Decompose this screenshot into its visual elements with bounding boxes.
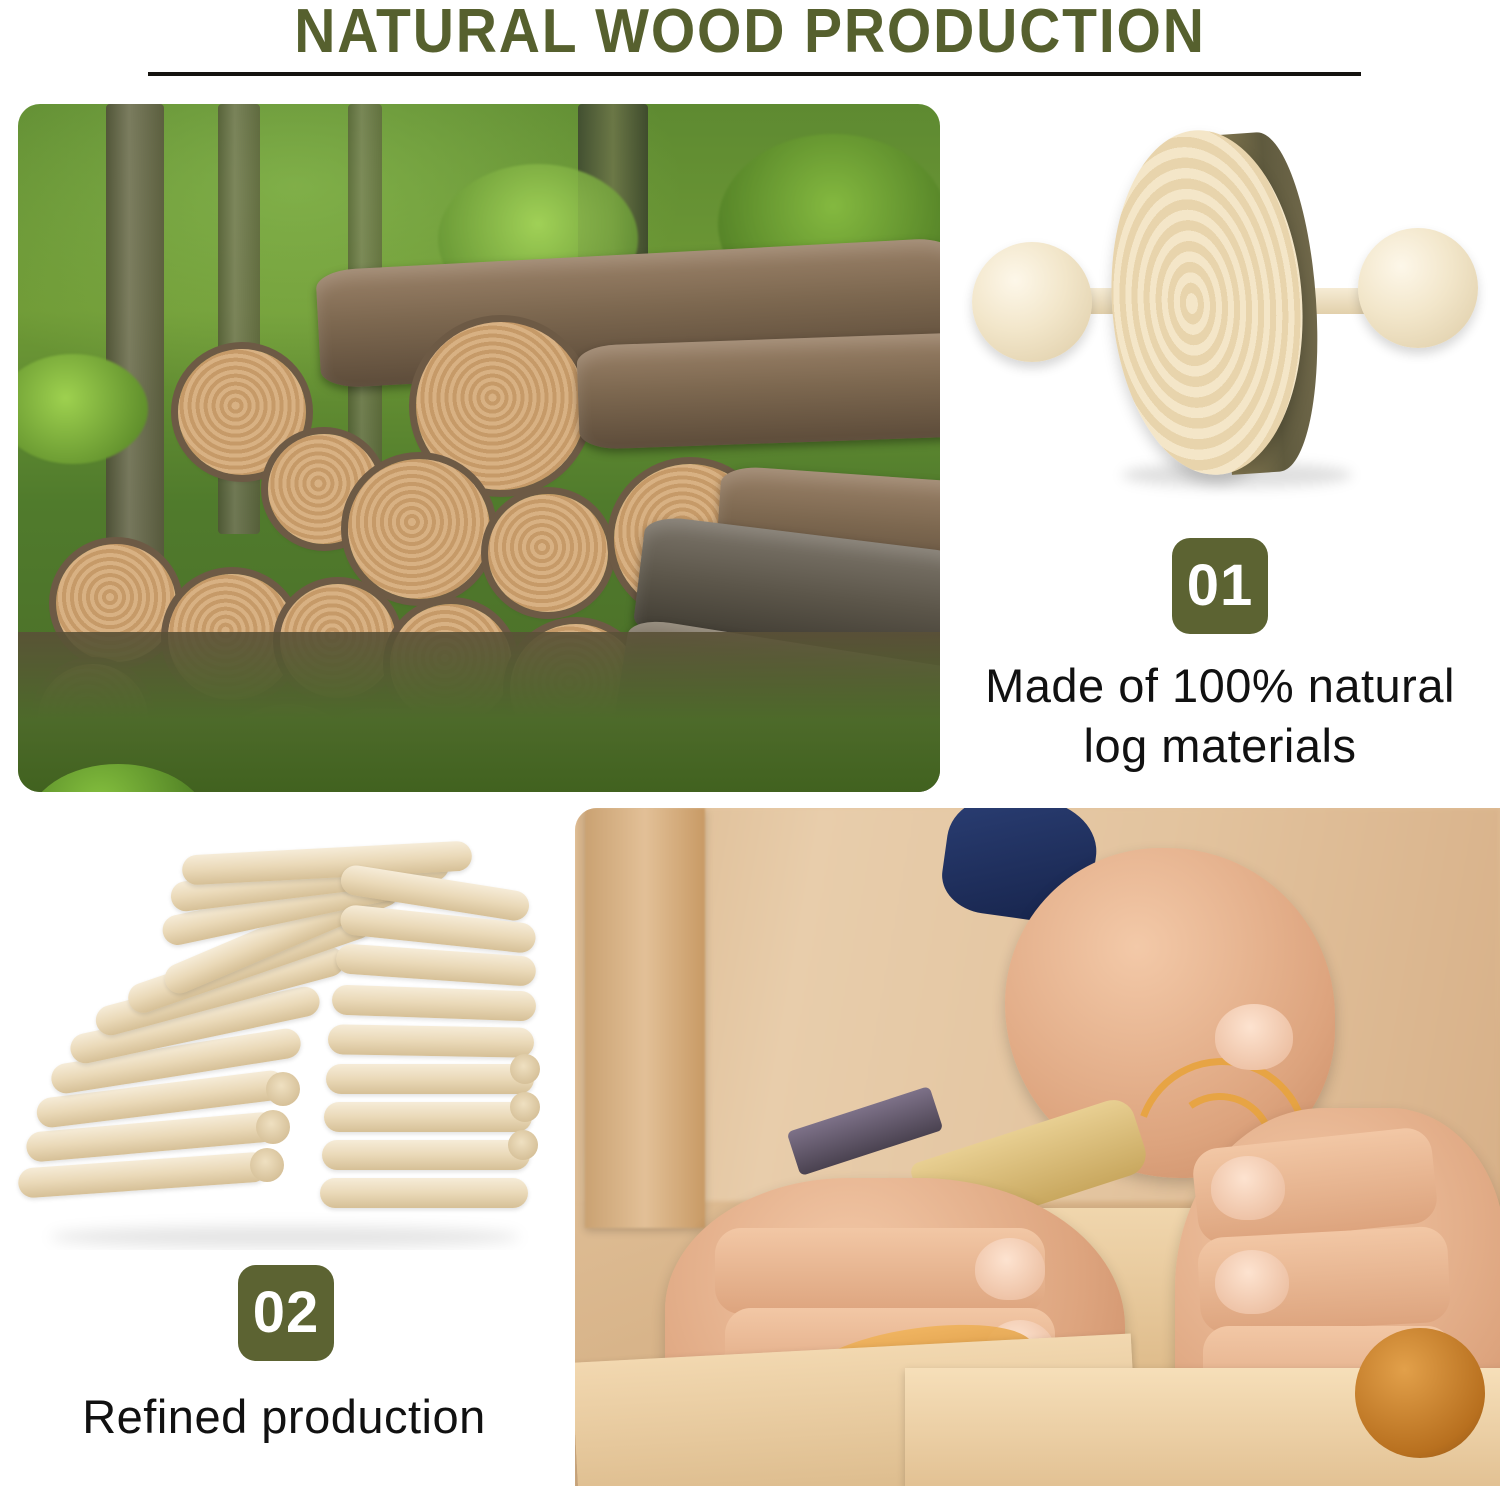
feature-text-02-line1: Refined production <box>28 1387 540 1447</box>
page-header: NATURAL WOOD PRODUCTION <box>0 0 1500 95</box>
feature-block-01: 01 Made of 100% natural log materials <box>940 538 1500 776</box>
photo-stacked-logs-in-forest <box>18 104 940 792</box>
feature-block-02: 02 Refined production <box>20 1265 540 1447</box>
photo-hand-planing-wood <box>575 808 1500 1486</box>
feature-text-01-line1: Made of 100% natural <box>940 656 1500 716</box>
feature-badge-02: 02 <box>238 1265 334 1361</box>
feature-badge-01: 01 <box>1172 538 1268 634</box>
feature-text-01: Made of 100% natural log materials <box>940 656 1500 776</box>
page-title: NATURAL WOOD PRODUCTION <box>60 0 1440 67</box>
feature-text-01-line2: log materials <box>940 716 1500 776</box>
photo-wooden-dumbbell-toy <box>962 110 1492 510</box>
feature-text-02: Refined production <box>20 1387 540 1447</box>
infographic-page: NATURAL WOOD PRODUCTION <box>0 0 1500 1486</box>
photo-wooden-dowel-bridge <box>10 830 570 1250</box>
title-divider <box>148 72 1361 76</box>
